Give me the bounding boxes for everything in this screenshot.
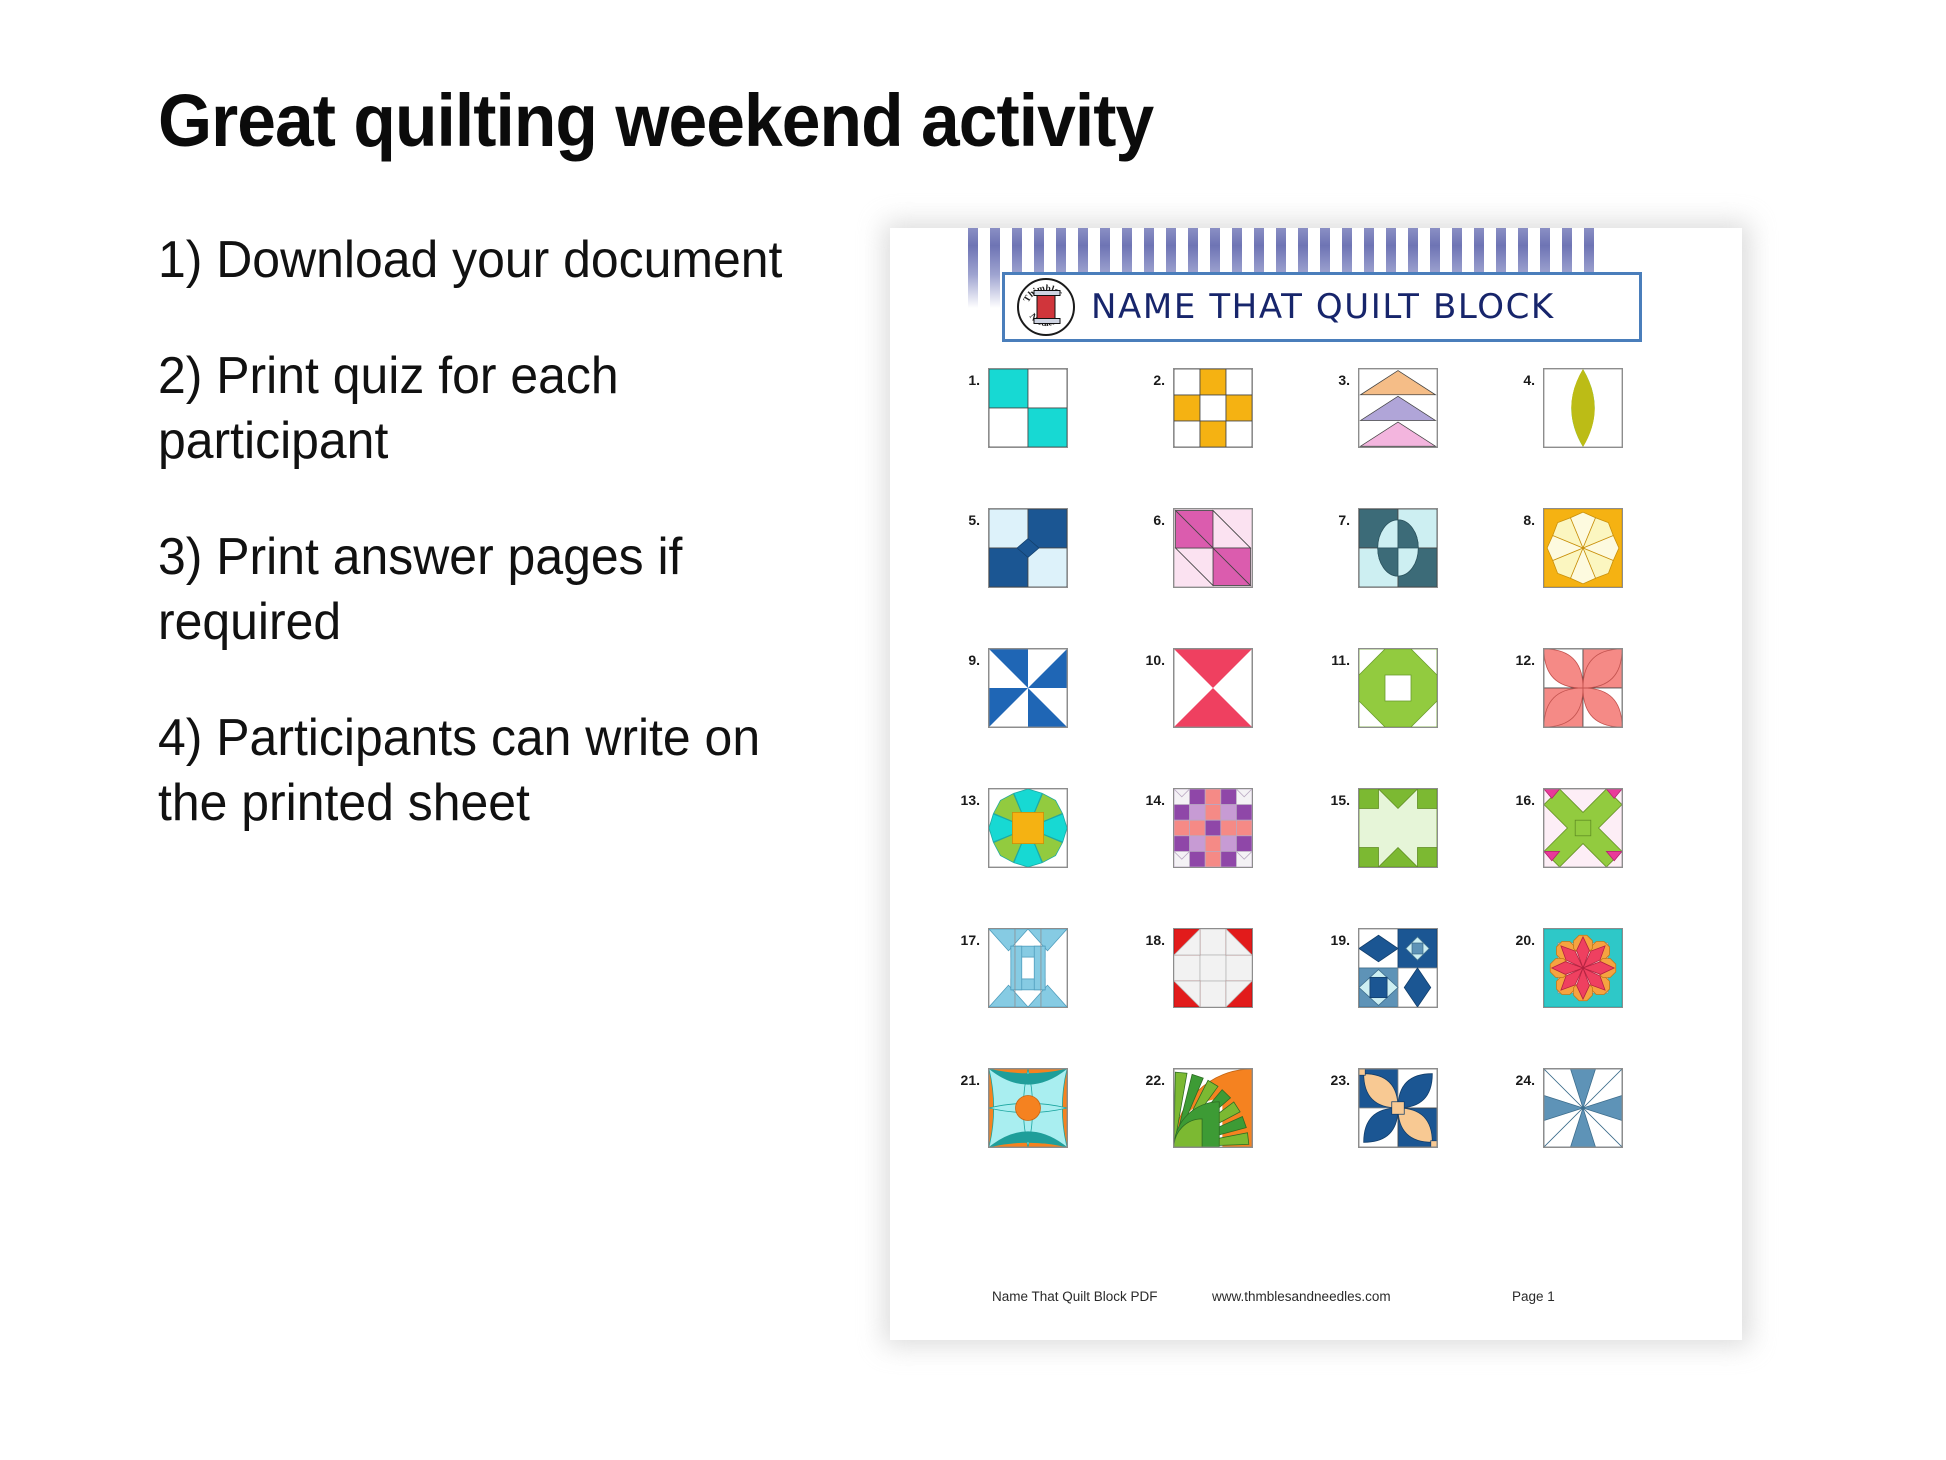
instruction-step-1: 1) Download your document <box>158 228 792 294</box>
corner-triangles-block <box>1173 928 1253 1008</box>
document-footer: Name That Quilt Block PDF www.thmblesand… <box>890 1289 1742 1304</box>
quiz-document-preview[interactable]: Thimbles Needles NAME THAT QUILT BLOCK 1… <box>890 228 1742 1340</box>
quilt-block-number: 2. <box>1131 368 1173 388</box>
quilt-block-cell: 2. <box>1131 368 1316 508</box>
quilt-block-cell: 8. <box>1501 508 1686 648</box>
churn-dash-block <box>1358 648 1438 728</box>
quilt-block-cell: 23. <box>1316 1068 1501 1208</box>
thimbles-and-needles-logo-icon: Thimbles Needles <box>1017 278 1075 336</box>
quilt-block-cell: 3. <box>1316 368 1501 508</box>
quilt-block-number: 3. <box>1316 368 1358 388</box>
card-trick-block <box>988 928 1068 1008</box>
quilt-block-number: 5. <box>946 508 988 528</box>
double-star-block <box>1543 788 1623 868</box>
orange-peel-navy-block <box>1358 1068 1438 1148</box>
quilt-block-cell: 10. <box>1131 648 1316 788</box>
quilt-block-cell: 7. <box>1316 508 1501 648</box>
quilt-block-row: 9.10.11.12. <box>946 648 1686 788</box>
quilt-block-number: 1. <box>946 368 988 388</box>
quilt-block-cell: 13. <box>946 788 1131 928</box>
quilt-block-number: 18. <box>1131 928 1173 948</box>
sawtooth-star-block <box>1358 788 1438 868</box>
quilt-block-number: 16. <box>1501 788 1543 808</box>
quilt-block-cell: 14. <box>1131 788 1316 928</box>
quilt-block-number: 4. <box>1501 368 1543 388</box>
quilt-block-number: 24. <box>1501 1068 1543 1088</box>
quilt-block-cell: 24. <box>1501 1068 1686 1208</box>
carpenter-star-block <box>1543 928 1623 1008</box>
quilt-block-number: 9. <box>946 648 988 668</box>
quilt-block-number: 21. <box>946 1068 988 1088</box>
slide-canvas: Great quilting weekend activity 1) Downl… <box>0 0 1946 1460</box>
quilt-block-cell: 1. <box>946 368 1131 508</box>
quilt-block-number: 22. <box>1131 1068 1173 1088</box>
four-patch-block <box>988 368 1068 448</box>
quilt-block-number: 14. <box>1131 788 1173 808</box>
thread-spool-icon <box>1037 294 1056 320</box>
quilt-block-row: 5.6.7.8. <box>946 508 1686 648</box>
page-title: Great quilting weekend activity <box>158 78 1153 163</box>
quilt-block-cell: 21. <box>946 1068 1131 1208</box>
instruction-step-4: 4) Participants can write on the printed… <box>158 706 792 837</box>
curved-pinwheel-block <box>1543 368 1623 448</box>
drunkards-circle-block <box>1358 508 1438 588</box>
quilt-block-row: 13.14.15.16. <box>946 788 1686 928</box>
document-title-box: Thimbles Needles NAME THAT QUILT BLOCK <box>1002 272 1642 342</box>
quilt-block-number: 19. <box>1316 928 1358 948</box>
instruction-list: 1) Download your document 2) Print quiz … <box>158 228 818 837</box>
quilt-block-number: 15. <box>1316 788 1358 808</box>
footer-right: Page 1 <box>1512 1289 1555 1304</box>
quilt-block-cell: 17. <box>946 928 1131 1068</box>
quilt-block-number: 12. <box>1501 648 1543 668</box>
footer-center: www.thmblesandneedles.com <box>1212 1289 1512 1304</box>
nine-patch-block <box>1173 368 1253 448</box>
feathered-star-block <box>1173 788 1253 868</box>
quilt-block-grid: 1.2.3.4.5.6.7.8.9.10.11.12.13.14.15.16.1… <box>946 368 1686 1208</box>
storm-at-sea-block <box>1358 928 1438 1008</box>
quilt-block-cell: 19. <box>1316 928 1501 1068</box>
quilt-block-number: 17. <box>946 928 988 948</box>
quilt-block-cell: 11. <box>1316 648 1501 788</box>
banner-stripe <box>990 228 1000 308</box>
kaleidoscope-block <box>1543 1068 1623 1148</box>
instruction-step-3: 3) Print answer pages if required <box>158 525 792 656</box>
bow-tie-block <box>988 508 1068 588</box>
eight-point-star-block <box>988 788 1068 868</box>
quilt-block-cell: 12. <box>1501 648 1686 788</box>
new-york-beauty-fan-block <box>1173 1068 1253 1148</box>
quilt-block-cell: 22. <box>1131 1068 1316 1208</box>
quilt-block-cell: 18. <box>1131 928 1316 1068</box>
three-triangles-block <box>1358 368 1438 448</box>
quilt-block-cell: 9. <box>946 648 1131 788</box>
pinwheel-block <box>988 648 1068 728</box>
lemoyne-star-block <box>1543 508 1623 588</box>
quilt-block-number: 6. <box>1131 508 1173 528</box>
quilt-block-cell: 15. <box>1316 788 1501 928</box>
diamond-in-square-block <box>1173 508 1253 588</box>
quilt-block-number: 20. <box>1501 928 1543 948</box>
quilt-block-row: 17.18.19.20. <box>946 928 1686 1068</box>
quilt-block-cell: 5. <box>946 508 1131 648</box>
instruction-step-2: 2) Print quiz for each participant <box>158 344 792 475</box>
quilt-block-number: 11. <box>1316 648 1358 668</box>
quilt-block-number: 23. <box>1316 1068 1358 1088</box>
banner-stripe <box>968 228 978 308</box>
hourglass-block <box>1173 648 1253 728</box>
orange-peel-block <box>1543 648 1623 728</box>
quilt-block-cell: 4. <box>1501 368 1686 508</box>
quilt-block-number: 7. <box>1316 508 1358 528</box>
quilt-block-cell: 16. <box>1501 788 1686 928</box>
quilt-block-cell: 6. <box>1131 508 1316 648</box>
document-header-title: NAME THAT QUILT BLOCK <box>1091 287 1555 327</box>
orange-peel-circles-block <box>988 1068 1068 1148</box>
quilt-block-row: 1.2.3.4. <box>946 368 1686 508</box>
quilt-block-number: 8. <box>1501 508 1543 528</box>
quilt-block-number: 10. <box>1131 648 1173 668</box>
quilt-block-cell: 20. <box>1501 928 1686 1068</box>
footer-left: Name That Quilt Block PDF <box>992 1289 1212 1304</box>
quilt-block-row: 21.22.23.24. <box>946 1068 1686 1208</box>
quilt-block-number: 13. <box>946 788 988 808</box>
